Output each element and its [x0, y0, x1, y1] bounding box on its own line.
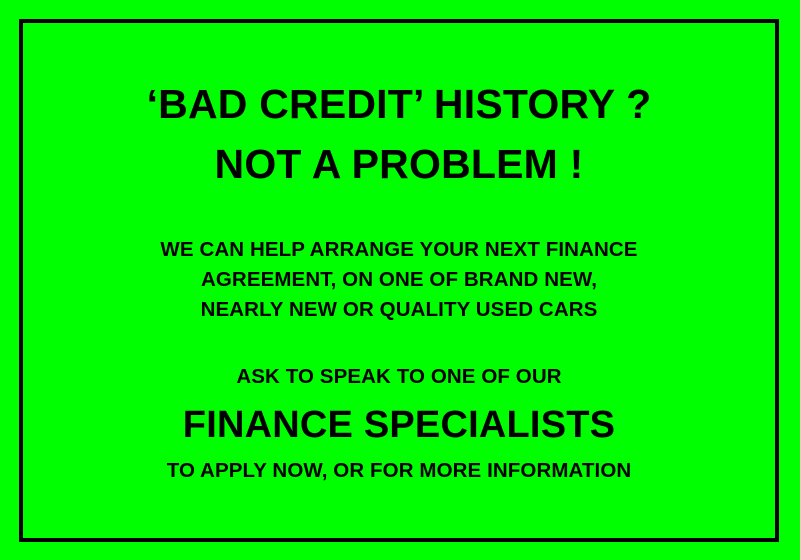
- headline-line-1: ‘BAD CREDIT’ HISTORY ?: [147, 84, 652, 125]
- headline-line-2: NOT A PROBLEM !: [215, 144, 584, 185]
- finance-specialists-heading: FINANCE SPECIALISTS: [183, 406, 615, 444]
- body-line-3: NEARLY NEW OR QUALITY USED CARS: [160, 295, 637, 325]
- body-line-1: WE CAN HELP ARRANGE YOUR NEXT FINANCE: [160, 235, 637, 265]
- body-text-block: WE CAN HELP ARRANGE YOUR NEXT FINANCE AG…: [160, 235, 637, 325]
- poster-content: ‘BAD CREDIT’ HISTORY ? NOT A PROBLEM ! W…: [19, 19, 779, 542]
- body-line-2: AGREEMENT, ON ONE OF BRAND NEW,: [160, 265, 637, 295]
- call-to-action-ask-line: ASK TO SPEAK TO ONE OF OUR: [236, 367, 561, 388]
- call-to-action-apply-line: TO APPLY NOW, OR FOR MORE INFORMATION: [167, 461, 632, 482]
- advertisement-poster: ‘BAD CREDIT’ HISTORY ? NOT A PROBLEM ! W…: [0, 0, 800, 560]
